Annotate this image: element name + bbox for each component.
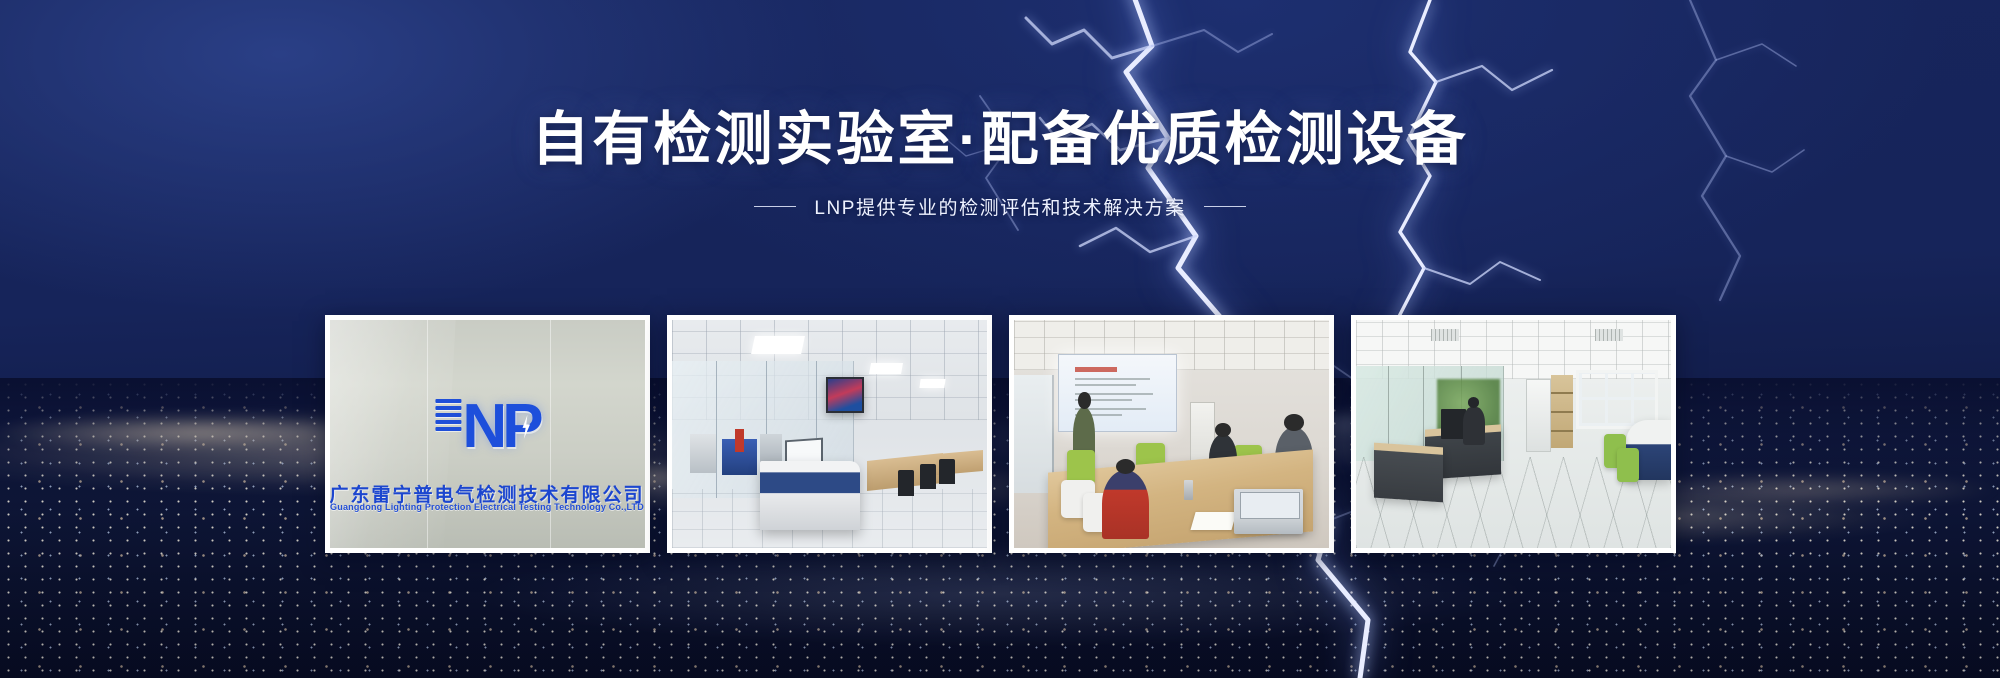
logo-bars-icon — [435, 399, 461, 451]
test-column — [735, 429, 744, 452]
green-visitor-chair — [1617, 448, 1639, 482]
banner-headline: 自有检测实验室·配备优质检测设备 — [0, 108, 2000, 173]
green-chair — [1067, 450, 1095, 482]
staff-person — [1463, 407, 1485, 446]
slide-text-line — [1075, 378, 1150, 380]
hero-banner: 自有检测实验室·配备优质检测设备 LNP提供专业的检测评估和技术解决方案 NP … — [0, 0, 2000, 678]
thermos-cup — [1184, 480, 1193, 501]
office-desk — [1374, 443, 1443, 503]
laptop-computer — [1234, 489, 1303, 535]
ceiling-light — [869, 363, 903, 374]
ceiling-light — [751, 336, 805, 354]
glass-seam — [550, 320, 551, 548]
glass-mullion — [716, 361, 717, 498]
desktop-monitor — [1441, 409, 1466, 439]
wall-display-screen — [826, 377, 864, 413]
banner-text-block: 自有检测实验室·配备优质检测设备 LNP提供专业的检测评估和技术解决方案 — [0, 108, 2000, 220]
office-chair — [920, 464, 936, 489]
rule-right-decoration — [1204, 206, 1246, 207]
gallery-item-meeting-room[interactable] — [1009, 315, 1334, 553]
slide-text-line — [1075, 384, 1136, 386]
photo-gallery: NP 广东雷宁普电气检测技术有限公司 Guangdong Lighting Pr… — [0, 315, 2000, 553]
glass-seam — [427, 320, 428, 548]
ceiling-vent — [1431, 329, 1459, 340]
photo-testing-laboratory — [672, 320, 987, 548]
cabinet-unit — [1526, 379, 1551, 452]
documents — [1190, 512, 1236, 530]
gallery-item-office-area[interactable] — [1351, 315, 1676, 553]
slide-title-bar — [1075, 367, 1117, 372]
photo-meeting-room — [1014, 320, 1329, 548]
office-chair — [898, 470, 914, 495]
office-chair — [939, 459, 955, 484]
signage-english-name: Guangdong Lighting Protection Electrical… — [330, 502, 644, 512]
test-equipment — [690, 434, 715, 473]
rule-left-decoration — [754, 206, 796, 207]
gallery-item-company-signage[interactable]: NP 广东雷宁普电气检测技术有限公司 Guangdong Lighting Pr… — [325, 315, 650, 553]
banner-subtitle: LNP提供专业的检测评估和技术解决方案 — [814, 193, 1185, 220]
wooden-shelf — [1551, 375, 1573, 448]
attendee-person-red-jacket — [1102, 470, 1149, 538]
gallery-item-testing-laboratory[interactable] — [667, 315, 992, 553]
photo-office-area — [1356, 320, 1671, 548]
control-console — [760, 461, 861, 529]
lnp-logo: NP — [435, 399, 538, 451]
ceiling-vent — [1595, 329, 1623, 340]
photo-company-signage: NP 广东雷宁普电气检测技术有限公司 Guangdong Lighting Pr… — [330, 320, 645, 548]
ceiling-light — [920, 379, 946, 388]
banner-subtitle-row: LNP提供专业的检测评估和技术解决方案 — [0, 193, 2000, 220]
